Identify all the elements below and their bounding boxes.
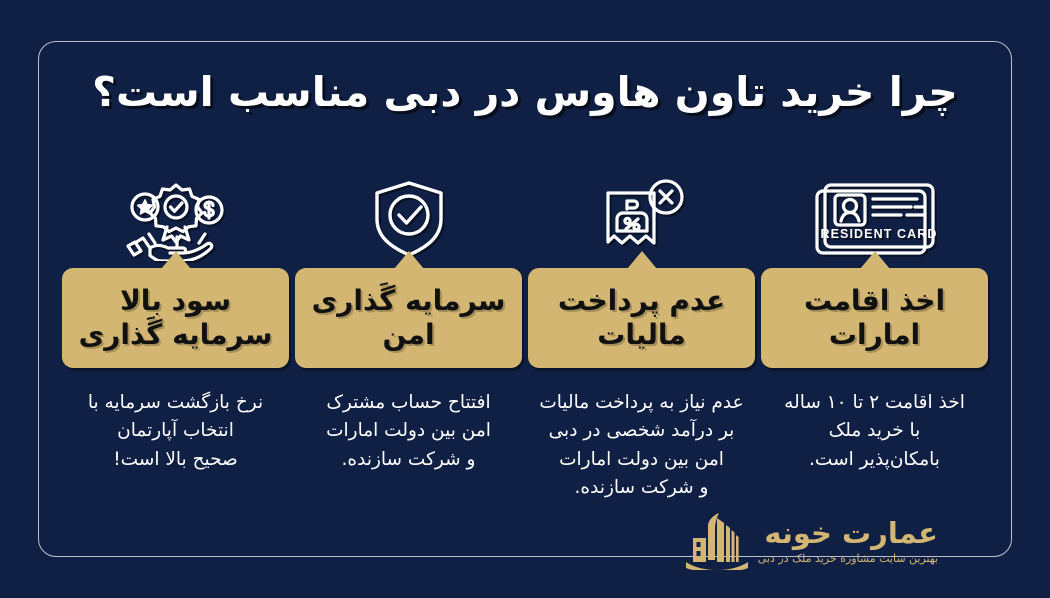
- benefit-banner-residency: اخذ اقامت امارات: [761, 268, 988, 368]
- brand-tagline: بهترین سایت مشاوره خرید ملک در دبی: [758, 551, 938, 568]
- benefit-description: افتتاح حساب مشترک امن بین دولت امارات و …: [322, 389, 495, 473]
- benefit-column-secure-investment: سرمایه گَذاری امن افتتاح حساب مشترک امن …: [295, 176, 522, 474]
- banner-label: سرمایه گَذاری امن: [312, 284, 506, 352]
- no-tax-receipt-icon: [594, 176, 690, 262]
- resident-card-icon: RESIDENT CARD: [809, 176, 941, 262]
- benefit-banner-no-tax: عدم پرداخت مالیات: [528, 268, 755, 368]
- benefit-description: نرخ بازگشت سرمایه با انتخاب آپارتمان صحی…: [84, 389, 267, 473]
- page-title: چرا خرید تاون هاوس در دبی مناسب است؟: [0, 66, 1050, 118]
- benefit-banner-high-return: سود بالا سرمایه گَذاری: [62, 268, 289, 368]
- banner-label: اخذ اقامت امارات: [804, 284, 945, 352]
- brand-logo-text: عمارت خونه بهترین سایت مشاوره خرید ملک د…: [758, 518, 938, 568]
- benefit-description: اخذ اقامت ۲ تا ۱۰ ساله با خرید ملک بامکا…: [780, 389, 969, 473]
- benefit-column-no-tax: عدم پرداخت مالیات عدم نیاز به پرداخت مال…: [528, 176, 755, 502]
- shield-check-icon: [366, 176, 452, 262]
- brand-name: عمارت خونه: [758, 518, 938, 548]
- brand-logo[interactable]: عمارت خونه بهترین سایت مشاوره خرید ملک د…: [686, 512, 938, 574]
- building-skyline-icon: [686, 512, 748, 574]
- benefit-description: عدم نیاز به پرداخت مالیات بر درآمد شخصی …: [535, 389, 747, 501]
- benefits-columns: RESIDENT CARD اخذ اقامت امارات اخذ اقامت…: [62, 176, 988, 502]
- hand-rewards-icon: [115, 176, 237, 262]
- banner-label: سود بالا سرمایه گَذاری: [79, 284, 273, 352]
- benefit-banner-secure-investment: سرمایه گَذاری امن: [295, 268, 522, 368]
- benefit-column-high-return: سود بالا سرمایه گَذاری نرخ بازگشت سرمایه…: [62, 176, 289, 474]
- benefit-column-residency: RESIDENT CARD اخذ اقامت امارات اخذ اقامت…: [761, 176, 988, 474]
- resident-card-label: RESIDENT CARD: [820, 227, 937, 241]
- banner-label: عدم پرداخت مالیات: [558, 284, 725, 352]
